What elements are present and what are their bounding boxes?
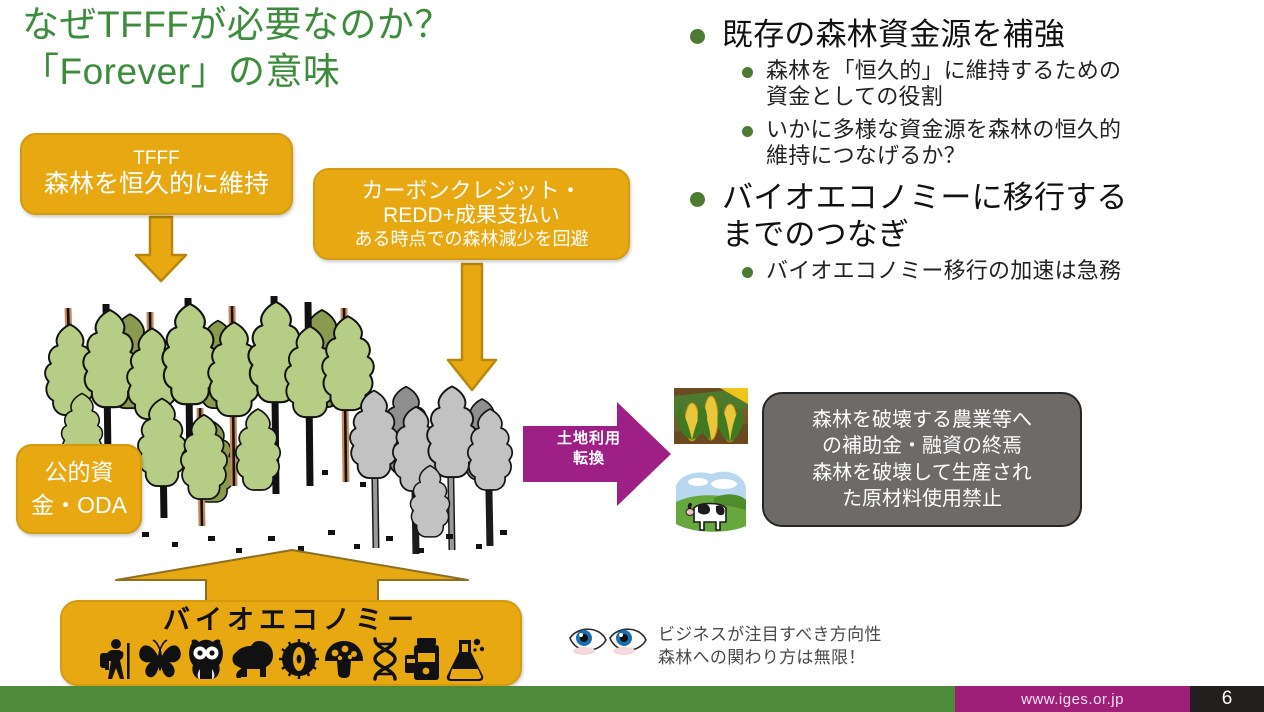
dna-helix-icon	[368, 637, 402, 681]
bullet-label: バイオエコノミーに移行する までのつなぎ	[722, 179, 1128, 255]
public-funds-line-1: 公的資	[45, 456, 114, 489]
bullet-dot-icon	[742, 67, 753, 78]
bullet-dot-icon	[742, 267, 753, 278]
butterfly-icon	[137, 638, 183, 680]
tfff-callout-box: TFFF 森林を恒久的に維持	[20, 133, 293, 215]
cow-pasture-photo	[668, 468, 754, 540]
eyes-icon	[566, 624, 650, 664]
slide-canvas: なぜTFFFが必要なのか？ 「Forever」の意味 既存の森林資金源を補強 森…	[0, 0, 1264, 712]
bioeconomy-callout-box: バイオエコノミー	[60, 600, 522, 686]
gray-box-line: 森林を破壊する農業等へ	[812, 407, 1032, 433]
bullet-list: 既存の森林資金源を補強 森林を「恒久的」に維持するための 資金としての役割 いか…	[690, 16, 1250, 294]
bullet-dot-icon	[690, 192, 705, 207]
page-title: なぜTFFFが必要なのか？ 「Forever」の意味	[22, 2, 662, 95]
bottom-note: ビジネスが注目すべき方向性 森林への関わり方は無限！	[566, 624, 882, 670]
corn-wheat-field-photo	[668, 382, 754, 454]
gray-statement-box: 森林を破壊する農業等へ の補助金・融資の終焉 森林を破壊して生産され た原材料使…	[762, 392, 1082, 527]
bioeconomy-up-arrow-icon	[112, 548, 472, 606]
owl-icon	[186, 637, 226, 681]
bottom-note-text: ビジネスが注目すべき方向性 森林への関わり方は無限！	[658, 624, 882, 670]
gray-box-line: た原材料使用禁止	[842, 486, 1002, 512]
bioeconomy-label: バイオエコノミー	[163, 606, 419, 634]
sub-bullet-list: バイオエコノミー移行の加速は急務	[742, 258, 1250, 284]
bullet-label: 既存の森林資金源を補強	[722, 16, 1065, 54]
gray-box-line: の補助金・融資の終焉	[822, 433, 1022, 459]
bullet-label: バイオエコノミー移行の加速は急務	[766, 258, 1121, 284]
public-funds-line-2: 金・ODA	[31, 489, 127, 522]
tfff-down-arrow-icon	[126, 215, 196, 285]
flask-icon	[446, 636, 486, 682]
footer-green-segment	[0, 686, 955, 712]
gorilla-icon	[229, 637, 275, 681]
bullet-item-level2: いかに多様な資金源を森林の恒久的 維持につなげるか？	[742, 117, 1250, 169]
tfff-line-1: TFFF	[133, 148, 179, 170]
durian-fruit-icon	[278, 638, 320, 680]
footer-url: www.iges.or.jp	[955, 686, 1190, 712]
footer-bar: www.iges.or.jp 6	[0, 686, 1264, 712]
bullet-item-level1: バイオエコノミーに移行する までのつなぎ	[690, 179, 1250, 255]
mushroom-icon	[323, 639, 365, 679]
sub-bullet-list: 森林を「恒久的」に維持するための 資金としての役割 いかに多様な資金源を森林の恒…	[742, 58, 1250, 169]
public-funds-callout-box: 公的資 金・ODA	[16, 444, 142, 534]
carbon-credit-down-arrow-icon	[438, 262, 508, 394]
page-number: 6	[1190, 686, 1264, 712]
bullet-dot-icon	[690, 29, 705, 44]
gray-box-line: 森林を破壊して生産され	[812, 460, 1031, 486]
carbon-credit-line-1: カーボンクレジット・	[361, 178, 581, 204]
hiker-icon	[96, 637, 134, 681]
land-use-change-label: 土地利用 転換	[547, 429, 631, 470]
carbon-credit-line-3: ある時点での森林減少を回避	[355, 229, 589, 250]
medicine-bottle-icon	[405, 637, 443, 681]
bullet-item-level1: 既存の森林資金源を補強	[690, 16, 1250, 54]
bullet-item-level2: バイオエコノミー移行の加速は急務	[742, 258, 1250, 284]
carbon-credit-callout-box: カーボンクレジット・ REDD+成果支払い ある時点での森林減少を回避	[313, 168, 630, 260]
bioeconomy-icon-row	[62, 636, 520, 682]
bullet-label: 森林を「恒久的」に維持するための 資金としての役割	[766, 58, 1121, 110]
tfff-line-2: 森林を恒久的に維持	[44, 170, 269, 200]
bullet-label: いかに多様な資金源を森林の恒久的 維持につなげるか？	[766, 117, 1121, 169]
bullet-dot-icon	[742, 126, 753, 137]
carbon-credit-line-2: REDD+成果支払い	[383, 204, 560, 229]
bullet-item-level2: 森林を「恒久的」に維持するための 資金としての役割	[742, 58, 1250, 110]
land-use-change-arrow: 土地利用 転換	[521, 398, 673, 510]
